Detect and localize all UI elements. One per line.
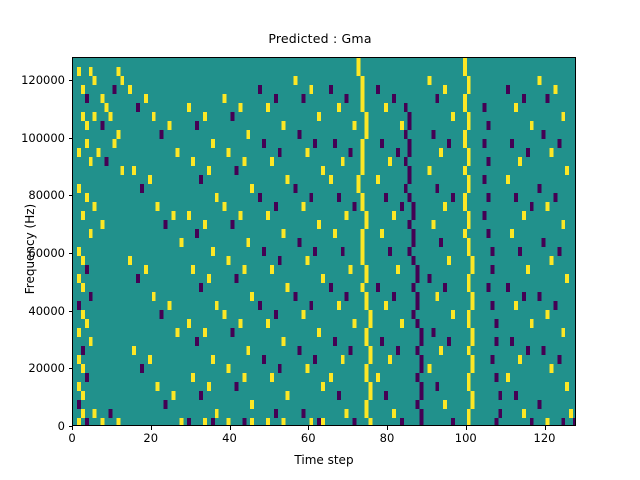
x-tick-label: 40: [222, 431, 237, 445]
x-tick-label: 60: [301, 431, 316, 445]
x-tick: [387, 426, 388, 430]
x-tick-label: 120: [534, 431, 556, 445]
y-tick: [69, 311, 73, 312]
x-tick-label: 0: [68, 431, 75, 445]
x-tick: [308, 426, 309, 430]
x-tick: [466, 426, 467, 430]
y-tick: [69, 368, 73, 369]
heatmap-grid: [73, 58, 576, 426]
x-tick-label: 20: [143, 431, 158, 445]
x-tick-label: 100: [455, 431, 477, 445]
x-tick: [151, 426, 152, 430]
heatmap-axes: [72, 57, 576, 426]
x-tick: [72, 426, 73, 430]
y-tick: [69, 80, 73, 81]
x-tick: [230, 426, 231, 430]
y-tick-label: 0: [58, 419, 65, 433]
y-tick: [69, 253, 73, 254]
heatmap-canvas: [73, 58, 576, 426]
x-tick: [545, 426, 546, 430]
x-tick-label: 80: [380, 431, 395, 445]
y-tick: [69, 195, 73, 196]
y-axis-label: Frequency (Hz): [23, 139, 37, 359]
y-tick-label: 20000: [28, 361, 65, 375]
x-axis-label: Time step: [72, 453, 576, 467]
y-tick: [69, 426, 73, 427]
y-tick-label: 120000: [21, 73, 65, 87]
plot-title: Predicted : Gma: [0, 31, 640, 46]
matplotlib-figure: Predicted : Gma 020406080100120 02000040…: [0, 0, 640, 480]
y-tick: [69, 138, 73, 139]
